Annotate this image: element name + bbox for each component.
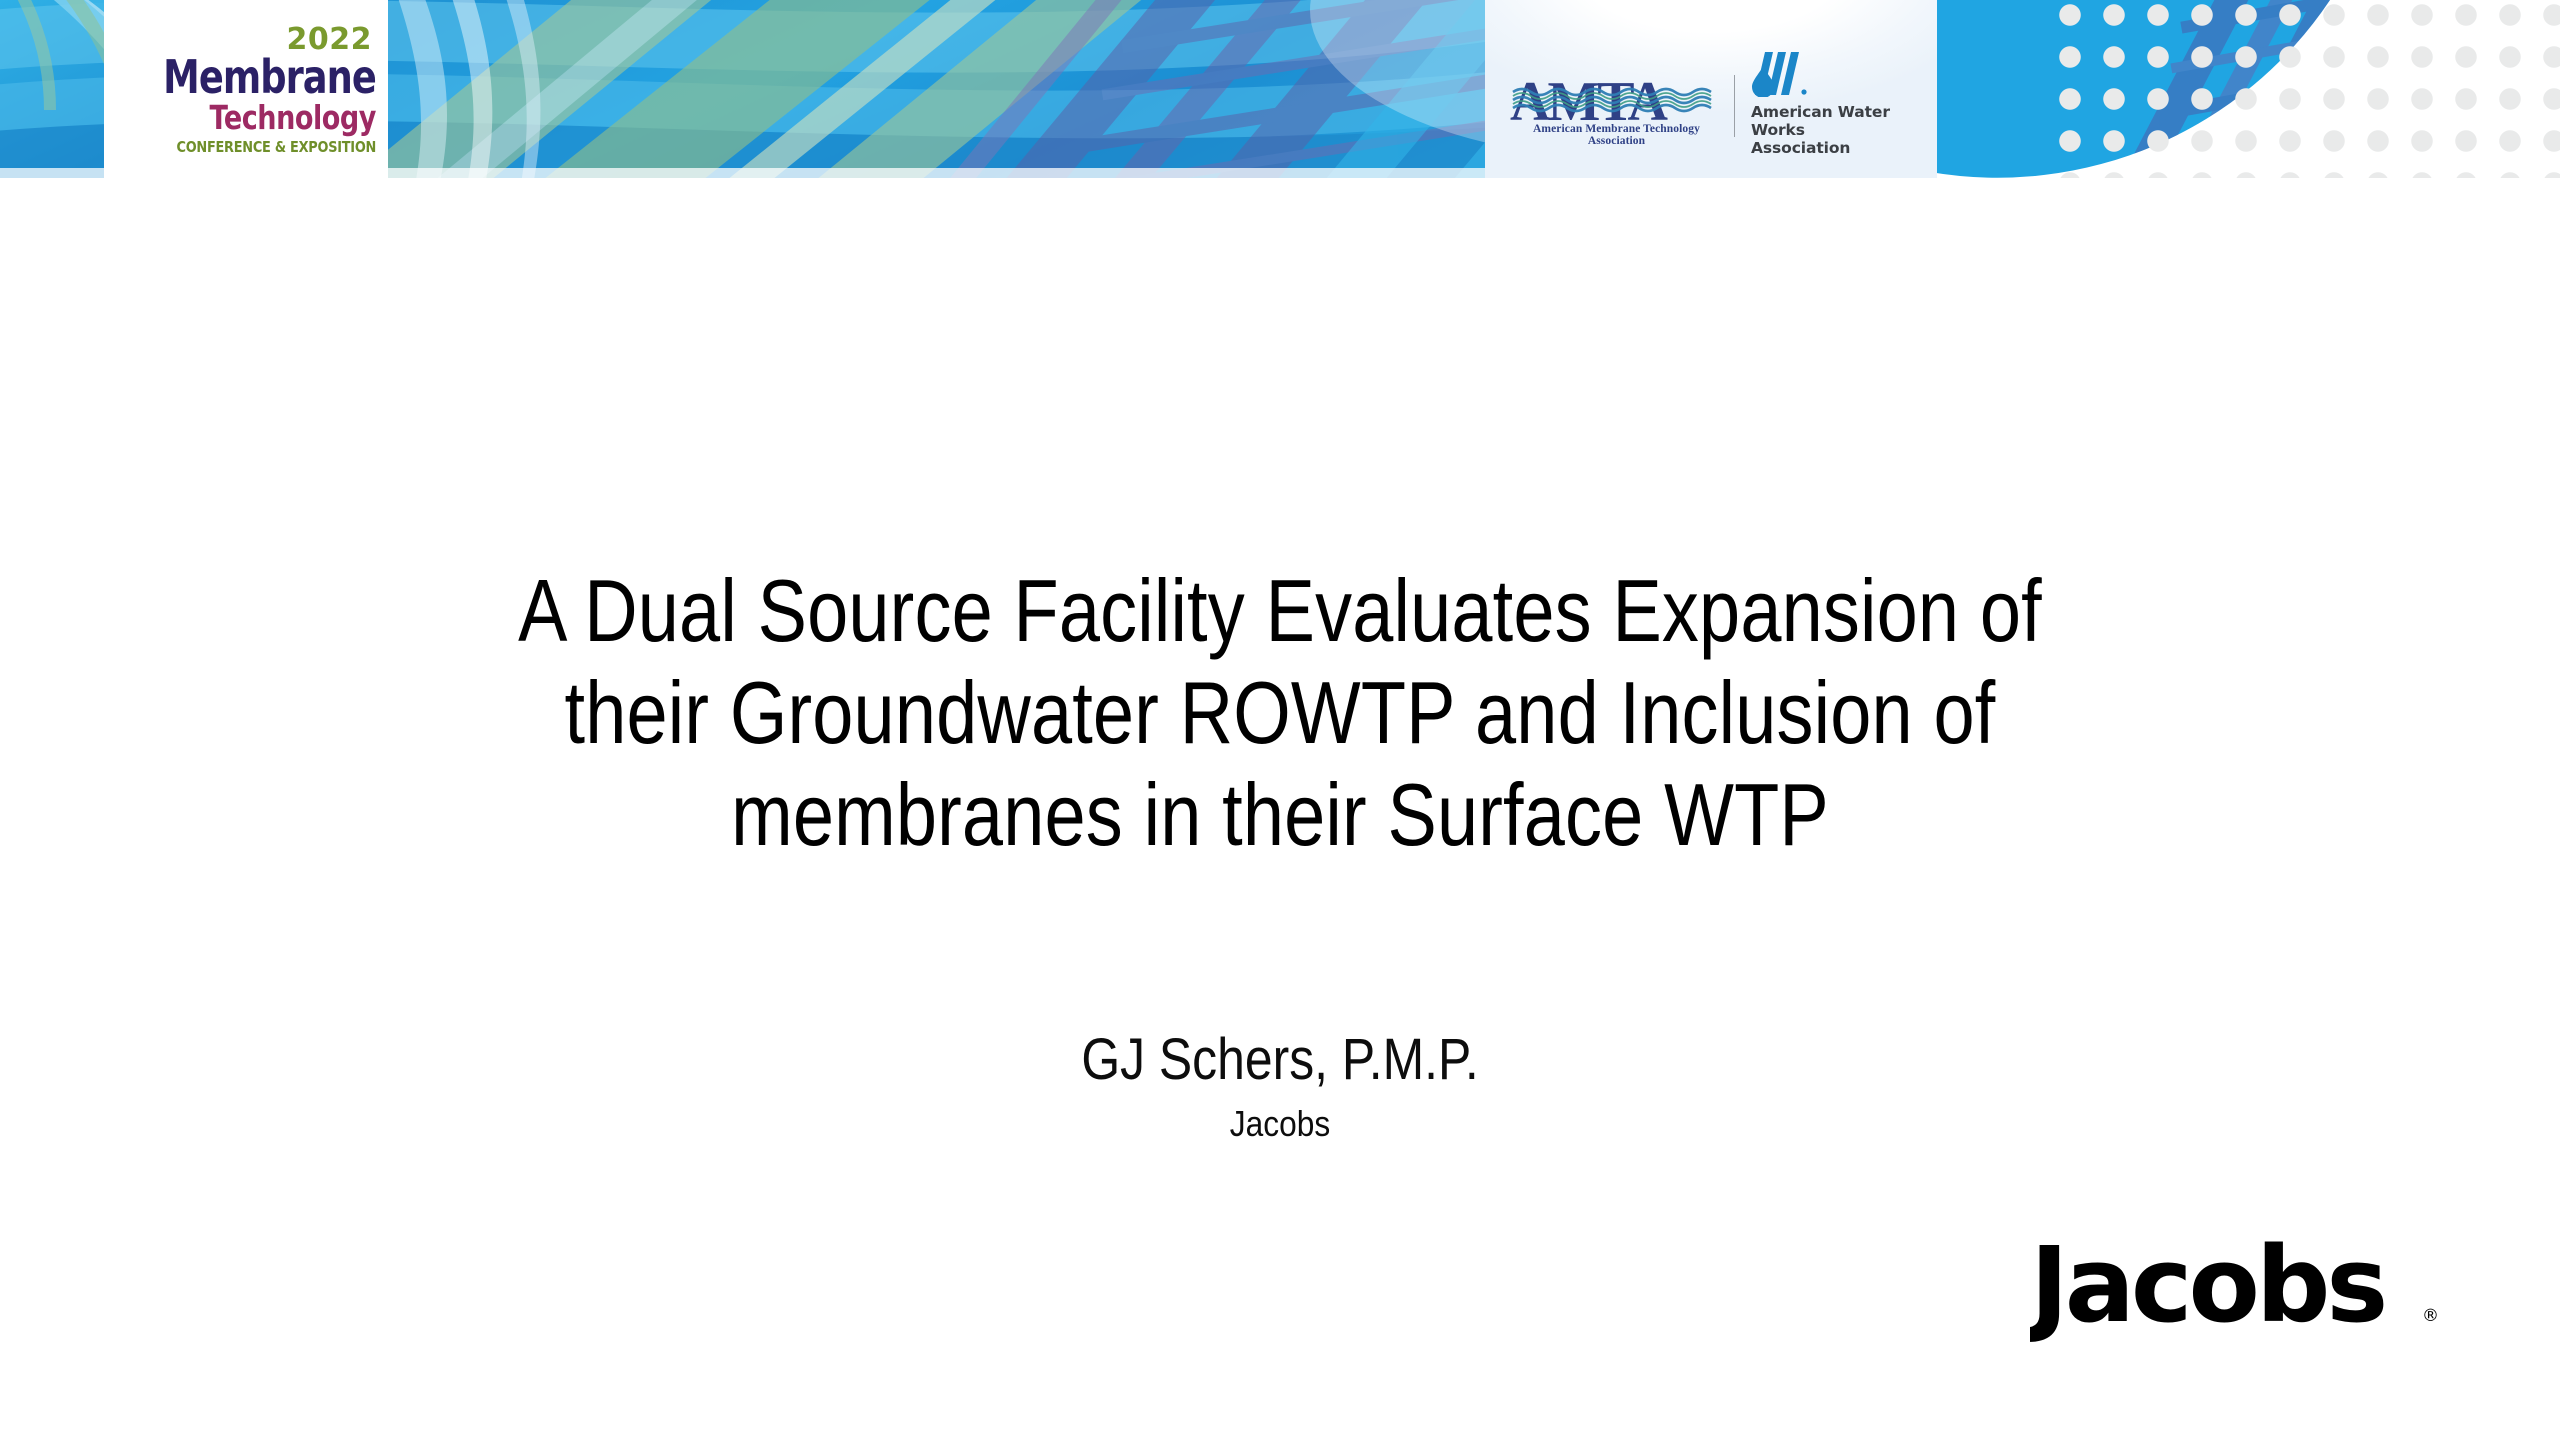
conference-caption: CONFERENCE & EXPOSITION — [176, 140, 376, 155]
svg-text:Jacobs: Jacobs — [2030, 1235, 2384, 1345]
author-block: GJ Schers, P.M.P. Jacobs — [130, 1030, 2430, 1143]
conference-name-line1: Membrane — [163, 56, 376, 100]
registered-trademark-icon: ® — [2422, 1306, 2439, 1326]
title-block: A Dual Source Facility Evaluates Expansi… — [130, 560, 2430, 866]
amta-subtitle: American Membrane Technology Association — [1509, 123, 1724, 147]
amta-logo: AMTA American Membrane Technology Associ… — [1509, 64, 1724, 150]
conference-banner: AMTA American Membrane Technology Associ… — [0, 0, 2560, 178]
association-logo-plate: AMTA American Membrane Technology Associ… — [1485, 0, 1937, 178]
water-drop-icon — [1751, 51, 1809, 97]
dot-grid-pattern — [2040, 0, 2560, 178]
membrane-technology-logo: 2022 Membrane Technology CONFERENCE & EX… — [104, 0, 388, 178]
awwa-logo: American Water Works Association — [1751, 51, 1919, 158]
awwa-name: American Water Works Association — [1751, 103, 1919, 158]
logo-divider — [1734, 75, 1735, 137]
page-title: A Dual Source Facility Evaluates Expansi… — [314, 560, 2246, 866]
jacobs-wordmark-icon: Jacobs ® — [2030, 1235, 2450, 1345]
jacobs-brand-logo: Jacobs ® — [2030, 1235, 2450, 1345]
author-name: GJ Schers, P.M.P. — [291, 1030, 2269, 1091]
title-slide: AMTA American Membrane Technology Associ… — [0, 0, 2560, 1440]
author-organization: Jacobs — [268, 1105, 2292, 1143]
conference-name-line2: Technology — [210, 101, 376, 134]
